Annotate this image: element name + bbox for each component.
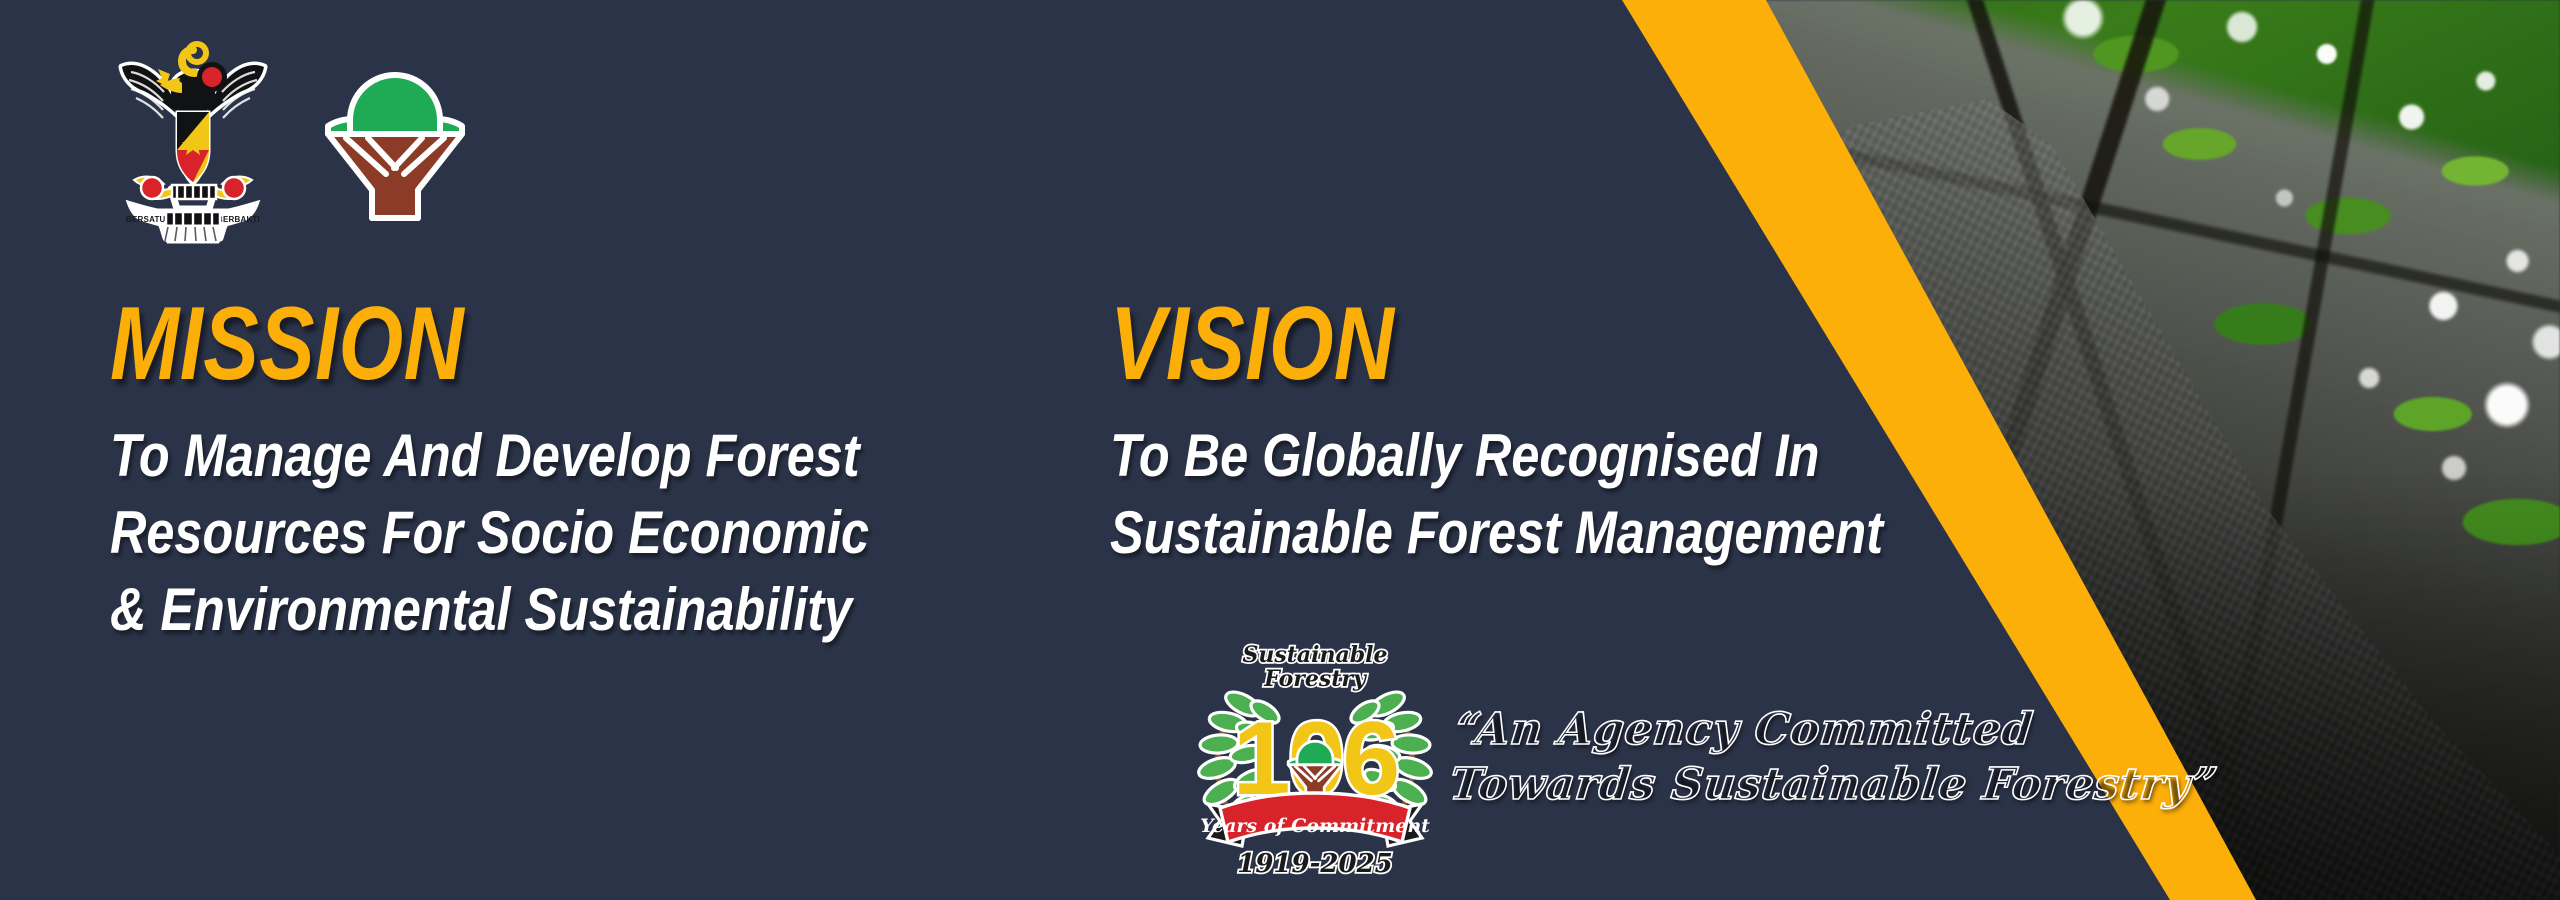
sarawak-coat-of-arms-icon: BERSATU BERUSAHA BERBAKTI bbox=[98, 22, 288, 244]
mission-column: MISSION To Manage And Develop Forest Res… bbox=[110, 292, 1030, 648]
badge-years: 1919-2025 bbox=[1237, 849, 1393, 879]
vision-column: VISION To Be Globally Recognised In Sust… bbox=[1110, 292, 2070, 572]
banner-root: BERSATU BERUSAHA BERBAKTI bbox=[0, 0, 2560, 900]
forest-department-tree-icon bbox=[310, 22, 480, 222]
mission-line-3: & Environmental Sustainability bbox=[110, 572, 883, 649]
mission-line-1: To Manage And Develop Forest bbox=[110, 418, 883, 495]
tagline-line-2: Towards Sustainable Forestry” bbox=[1447, 757, 2059, 812]
badge-script-line-2: Forestry bbox=[1263, 666, 1368, 692]
anniversary-106-badge-icon: Sustainable Forestry 106 bbox=[1190, 632, 1440, 882]
vision-heading: VISION bbox=[1110, 292, 1878, 396]
logo-row: BERSATU BERUSAHA BERBAKTI bbox=[98, 22, 480, 244]
mission-line-2: Resources For Socio Economic bbox=[110, 495, 883, 572]
anniversary-row: Sustainable Forestry 106 bbox=[1190, 632, 2056, 882]
badge-ribbon-text: Years of Commitment bbox=[1200, 815, 1430, 837]
mission-heading: MISSION bbox=[110, 292, 846, 396]
tagline-block: “An Agency Committed Towards Sustainable… bbox=[1456, 702, 2056, 813]
vision-line-2: Sustainable Forest Management bbox=[1110, 495, 1916, 572]
tagline-line-1: “An Agency Committed bbox=[1453, 702, 2059, 757]
vision-line-1: To Be Globally Recognised In bbox=[1110, 418, 1916, 495]
badge-script-line-1: Sustainable bbox=[1242, 642, 1387, 668]
